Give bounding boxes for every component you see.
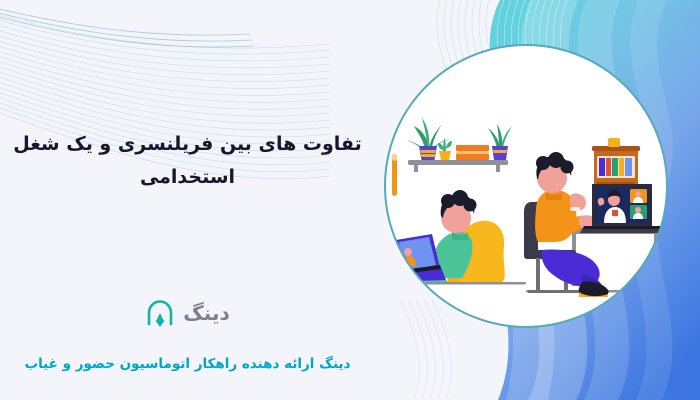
ding-logo[interactable]: دینگ bbox=[10, 298, 365, 328]
illustration-svg bbox=[386, 46, 668, 328]
freelancer-laptop bbox=[388, 234, 446, 282]
blog-banner: تفاوت های بین فریلنسری و یک شغل استخدامی… bbox=[0, 0, 700, 400]
employee-scene bbox=[524, 138, 668, 297]
freelancer-scene bbox=[388, 118, 526, 285]
employee-laptop bbox=[580, 184, 666, 233]
ding-arch-icon bbox=[145, 298, 175, 328]
potted-plant-3 bbox=[488, 124, 512, 160]
employee-shoe bbox=[579, 281, 609, 297]
logo-text: دینگ bbox=[183, 303, 229, 323]
pencil-accent bbox=[392, 154, 397, 196]
page-title: تفاوت های بین فریلنسری و یک شغل استخدامی bbox=[10, 128, 365, 195]
potted-plant-2 bbox=[438, 138, 452, 160]
remote-work-illustration bbox=[384, 44, 668, 328]
tagline: دینگ ارائه دهنده راهکار اتوماسیون حضور و… bbox=[10, 354, 365, 374]
book-stack bbox=[456, 145, 489, 160]
wall-shelf bbox=[408, 160, 508, 172]
